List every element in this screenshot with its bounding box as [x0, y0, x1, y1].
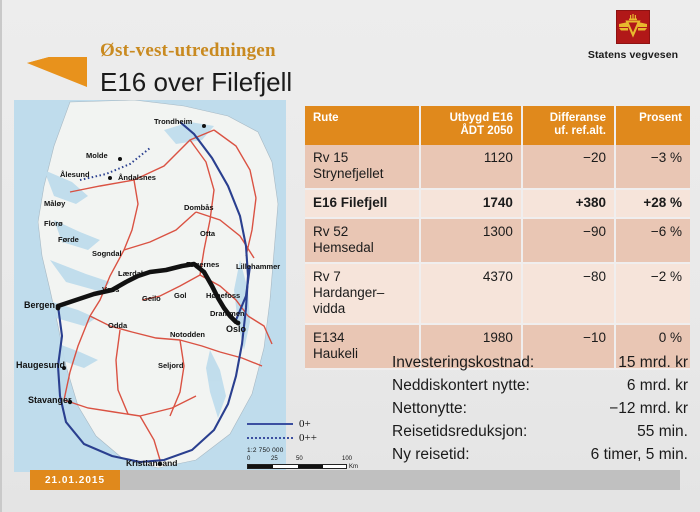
table-row: Rv 52 Hemsedal 1300 −90 −6 % — [305, 218, 690, 263]
svg-text:Dombås: Dombås — [184, 203, 214, 212]
footer-bar — [72, 470, 680, 490]
svg-text:Lærdal: Lærdal — [118, 269, 143, 278]
svg-text:Oslo: Oslo — [226, 324, 247, 334]
svg-text:Åndalsnes: Åndalsnes — [118, 173, 156, 182]
cell-adt: 1120 — [420, 145, 522, 189]
scale-tick-25: 25 — [271, 456, 278, 462]
svg-text:Geilo: Geilo — [142, 294, 161, 303]
scale-tick-100: 100 — [342, 456, 352, 462]
svg-text:Bergen: Bergen — [24, 300, 55, 310]
col-header-utbygd-e16: Utbygd E16 ÅDT 2050 — [420, 106, 522, 145]
norway-map: Trondheim Molde Ålesund Åndalsnes Dombås… — [14, 100, 286, 472]
col-header-rute: Rute — [305, 106, 420, 145]
logo-label: Statens vegvesen — [578, 49, 688, 61]
svg-text:Florø: Florø — [44, 219, 63, 228]
page-title: E16 over Filefjell — [100, 67, 292, 98]
stat-value: 55 min. — [637, 421, 688, 444]
stat-value: −12 mrd. kr — [609, 398, 688, 421]
stat-row-investeringskostnad: Investeringskostnad: 15 mrd. kr — [392, 352, 688, 375]
stat-label: Reisetidsreduksjon: — [392, 421, 537, 444]
stat-label: Ny reisetid: — [392, 444, 480, 467]
svg-text:Notodden: Notodden — [170, 330, 205, 339]
stat-row-ny-reisetid: Ny reisetid: 6 timer, 5 min. — [392, 444, 688, 467]
cell-rute: E16 Filefjell — [305, 189, 420, 218]
cell-prosent: −3 % — [615, 145, 690, 189]
table-row: Rv 7 Hardanger– vidda 4370 −80 −2 % — [305, 263, 690, 324]
kicker-text: Øst-vest-utredningen — [100, 40, 276, 62]
stat-value: 6 mrd. kr — [627, 375, 688, 398]
stat-value: 6 timer, 5 min. — [591, 444, 688, 467]
stat-label: Investeringskostnad: — [392, 352, 544, 375]
results-table: Rute Utbygd E16 ÅDT 2050 Differanse uf. … — [305, 106, 690, 370]
cell-adt: 1740 — [420, 189, 522, 218]
cell-adt: 4370 — [420, 263, 522, 324]
table-header-row: Rute Utbygd E16 ÅDT 2050 Differanse uf. … — [305, 106, 690, 145]
cell-rute: Rv 7 Hardanger– vidda — [305, 263, 420, 324]
svg-text:Hønefoss: Hønefoss — [206, 291, 240, 300]
svg-text:Lillehammer: Lillehammer — [236, 262, 280, 271]
svg-text:Otta: Otta — [200, 229, 216, 238]
slide: Øst-vest-utredningen E16 over Filefjell — [0, 0, 700, 512]
stat-row-neddiskontert-nytte: Neddiskontert nytte: 6 mrd. kr — [392, 375, 688, 398]
table-row: Rv 15 Strynefjellet 1120 −20 −3 % — [305, 145, 690, 189]
stat-value: 15 mrd. kr — [618, 352, 688, 375]
legend-item-dotted: 0++ — [247, 432, 359, 444]
scale-tick-0: 0 — [247, 456, 250, 462]
col-header-differanse: Differanse uf. ref.alt. — [522, 106, 615, 145]
legend-label-0plusplus: 0++ — [299, 432, 317, 444]
legend-dotted-line-icon — [247, 437, 293, 439]
cell-prosent: +28 % — [615, 189, 690, 218]
cell-adt: 1300 — [420, 218, 522, 263]
stat-label: Neddiskontert nytte: — [392, 375, 540, 398]
legend-label-0plus: 0+ — [299, 418, 311, 430]
svg-text:Ålesund: Ålesund — [60, 170, 90, 179]
svg-text:Kristiansand: Kristiansand — [126, 458, 178, 468]
legend-item-solid: 0+ — [247, 418, 359, 430]
summary-stats: Investeringskostnad: 15 mrd. kr Neddisko… — [392, 352, 688, 467]
svg-text:Måløy: Måløy — [44, 199, 66, 208]
svg-text:Drammen: Drammen — [210, 309, 245, 318]
cell-prosent: −2 % — [615, 263, 690, 324]
svg-text:Seljord: Seljord — [158, 361, 184, 370]
scale-ticks: 0 25 50 100 — [247, 456, 347, 464]
legend-solid-line-icon — [247, 423, 293, 425]
cell-differanse: −90 — [522, 218, 615, 263]
cell-rute: Rv 15 Strynefjellet — [305, 145, 420, 189]
statens-vegvesen-logo: Statens vegvesen — [578, 10, 688, 61]
svg-text:Stavanger: Stavanger — [28, 395, 72, 405]
stat-row-nettonytte: Nettonytte: −12 mrd. kr — [392, 398, 688, 421]
svg-text:Fagernes: Fagernes — [186, 260, 219, 269]
scale-bar: Km — [247, 464, 347, 469]
svg-text:Molde: Molde — [86, 151, 108, 160]
col-header-prosent: Prosent — [615, 106, 690, 145]
cell-differanse: −20 — [522, 145, 615, 189]
svg-text:Sogndal: Sogndal — [92, 249, 122, 258]
svg-text:Haugesund: Haugesund — [16, 360, 65, 370]
svg-text:Voss: Voss — [102, 285, 119, 294]
svg-text:Odda: Odda — [108, 321, 128, 330]
cell-rute: Rv 52 Hemsedal — [305, 218, 420, 263]
svg-text:Gol: Gol — [174, 291, 187, 300]
stat-row-reisetidsreduksjon: Reisetidsreduksjon: 55 min. — [392, 421, 688, 444]
cell-differanse: −80 — [522, 263, 615, 324]
vegvesen-emblem-icon — [616, 10, 650, 44]
cell-prosent: −6 % — [615, 218, 690, 263]
orange-wedge-icon — [24, 35, 90, 87]
svg-text:Trondheim: Trondheim — [154, 117, 193, 126]
svg-text:Førde: Førde — [58, 235, 79, 244]
stat-label: Nettonytte: — [392, 398, 477, 421]
scale-tick-50: 50 — [296, 456, 303, 462]
footer-date: 21.01.2015 — [30, 470, 120, 490]
table-row-highlight: E16 Filefjell 1740 +380 +28 % — [305, 189, 690, 218]
cell-differanse: +380 — [522, 189, 615, 218]
scale-ratio: 1:2 750 000 — [247, 447, 359, 454]
map-legend: 0+ 0++ 1:2 750 000 0 25 50 100 Km — [247, 418, 359, 469]
